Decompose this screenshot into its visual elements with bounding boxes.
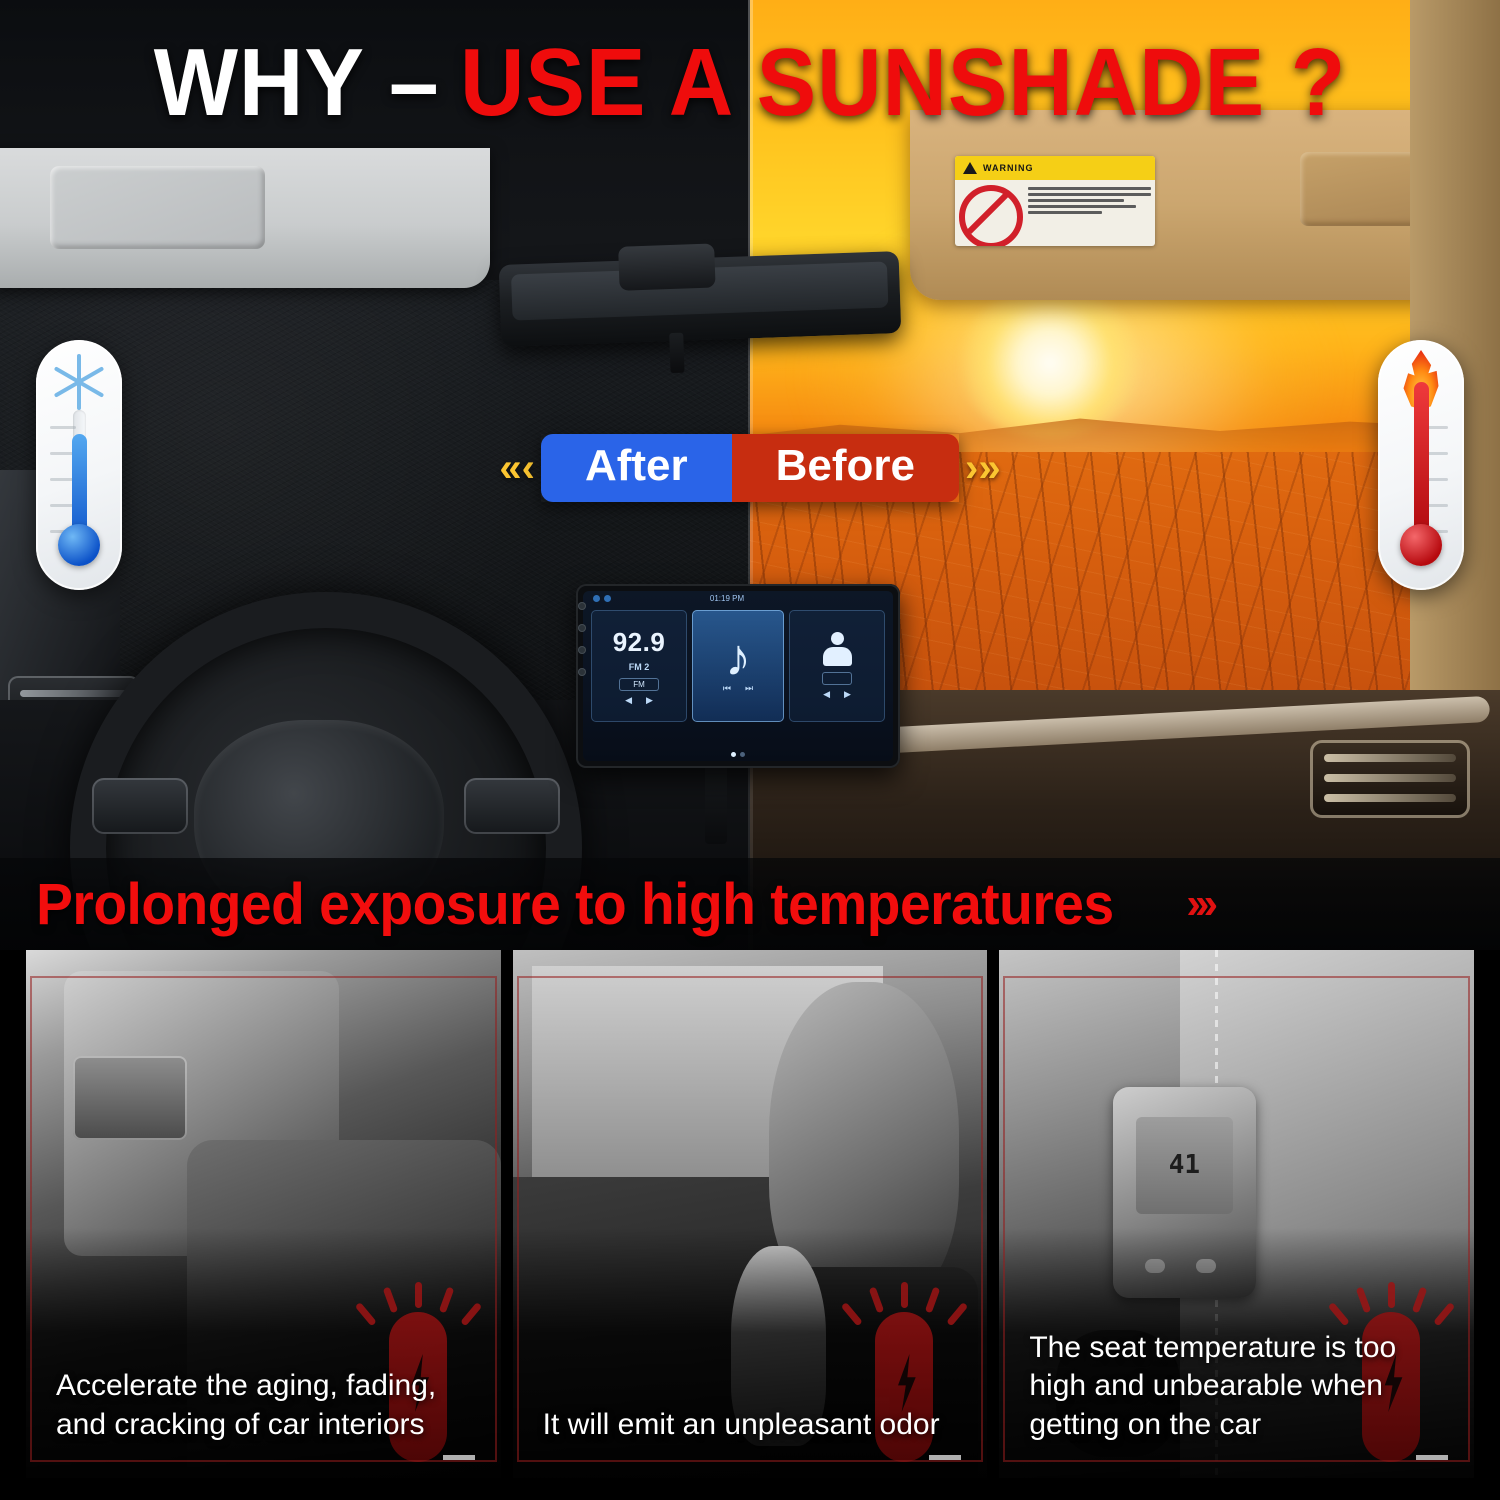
rear-view-mirror <box>499 251 902 347</box>
no-rear-facing-child-seat-icon <box>959 185 1023 246</box>
section-subtitle: Prolonged exposure to high temperatures <box>0 871 1114 938</box>
page-indicator <box>583 752 893 757</box>
mirror-stem <box>669 333 684 373</box>
caption-underscore <box>929 1455 961 1460</box>
sun-visor-right: WARNING <box>910 110 1470 300</box>
sun-visor-left <box>0 148 490 288</box>
warning-header-bar: WARNING <box>955 156 1155 180</box>
warning-triangle-icon <box>963 162 977 174</box>
before-badge[interactable]: Before <box>732 434 959 502</box>
power-key-icon[interactable] <box>578 668 586 676</box>
signal-icon <box>604 595 611 602</box>
warning-title: WARNING <box>983 163 1034 173</box>
visor-clip-icon <box>56 172 80 242</box>
warning-text-lines <box>1028 185 1151 246</box>
radio-band: FM 2 <box>629 662 650 672</box>
thermometer-bulb-hot <box>1400 524 1442 566</box>
hardkey-column[interactable] <box>574 602 590 676</box>
media-cards: 92.9 FM 2 FM ◀ ▶ ♪ ⏮ ⏭ <box>583 603 893 729</box>
panel-caption: Accelerate the aging, fading, and cracki… <box>56 1367 475 1444</box>
radio-seek-controls[interactable]: ◀ ▶ <box>625 695 653 706</box>
music-note-icon: ♪ <box>725 638 751 680</box>
bluetooth-icon <box>593 595 600 602</box>
panel-seat-heat: 41 The seat temperature is too high and … <box>999 950 1474 1478</box>
clock: 01:19 PM <box>710 594 744 603</box>
dash-vent-icon <box>73 1056 187 1140</box>
media-transport-controls[interactable]: ⏮ ⏭ <box>723 683 753 694</box>
product-infographic: WARNING <box>0 0 1500 1500</box>
status-icons <box>593 595 611 602</box>
panel-caption: It will emit an unpleasant odor <box>543 1406 962 1444</box>
menu-key-icon[interactable] <box>578 624 586 632</box>
caption-underscore <box>1416 1455 1448 1460</box>
volume-key-icon[interactable] <box>578 646 586 654</box>
profile-nav-controls[interactable]: ◀ ▶ <box>823 689 851 700</box>
rewind-icon[interactable]: ⏮ <box>723 683 731 694</box>
before-after-toggle[interactable]: «‹ After Before ›» <box>0 432 1500 504</box>
steering-control-right <box>464 778 560 834</box>
title-white-part: WHY – <box>154 28 440 138</box>
right-chevrons-icon: ›» <box>965 448 1001 488</box>
comparison-pills[interactable]: After Before <box>541 434 959 502</box>
seek-next-icon[interactable]: ▶ <box>646 695 653 706</box>
infotainment-screen[interactable]: 01:19 PM 92.9 FM 2 FM ◀ ▶ ♪ <box>583 591 893 761</box>
profile-card[interactable]: ◀ ▶ <box>789 610 885 722</box>
snowflake-icon <box>51 354 107 410</box>
air-vent-right <box>1310 740 1470 818</box>
infotainment-display[interactable]: 01:19 PM 92.9 FM 2 FM ◀ ▶ ♪ <box>576 584 900 768</box>
forward-icon[interactable]: ⏭ <box>745 683 753 694</box>
profile-chip[interactable] <box>822 672 852 685</box>
mirror-camera-housing <box>618 243 715 290</box>
airbag-warning-label: WARNING <box>955 156 1155 246</box>
section-subtitle-band: Prolonged exposure to high temperatures … <box>0 858 1500 950</box>
hero-comparison-image: WARNING <box>0 0 1500 950</box>
steering-control-left <box>92 778 188 834</box>
preset-chip[interactable]: FM <box>619 678 659 691</box>
radio-frequency: 92.9 <box>613 627 666 658</box>
radio-card[interactable]: 92.9 FM 2 FM ◀ ▶ <box>591 610 687 722</box>
benefit-panels: Accelerate the aging, fading, and cracki… <box>0 950 1500 1500</box>
thermometer-reading: 41 <box>1136 1117 1233 1214</box>
home-key-icon[interactable] <box>578 602 586 610</box>
media-card[interactable]: ♪ ⏮ ⏭ <box>692 610 784 722</box>
driver-profile-icon <box>822 632 852 666</box>
page-title: WHY – USE A SUNSHADE ? <box>53 28 1448 138</box>
profile-next-icon[interactable]: ▶ <box>844 689 851 700</box>
title-red-part: USE A SUNSHADE ? <box>460 28 1346 138</box>
profile-prev-icon[interactable]: ◀ <box>823 689 830 700</box>
thermometer-bulb-cold <box>58 524 100 566</box>
status-bar: 01:19 PM <box>583 591 893 603</box>
subtitle-chevrons-icon: ››› <box>1186 879 1212 929</box>
caption-underscore <box>443 1455 475 1460</box>
panel-odor: It will emit an unpleasant odor <box>513 950 988 1478</box>
left-chevrons-icon: «‹ <box>499 448 535 488</box>
seek-prev-icon[interactable]: ◀ <box>625 695 632 706</box>
panel-caption: The seat temperature is too high and unb… <box>1029 1329 1448 1444</box>
sun-icon <box>955 288 1145 438</box>
after-badge[interactable]: After <box>541 434 732 502</box>
panel-aging: Accelerate the aging, fading, and cracki… <box>26 950 501 1478</box>
warning-body <box>955 180 1155 246</box>
